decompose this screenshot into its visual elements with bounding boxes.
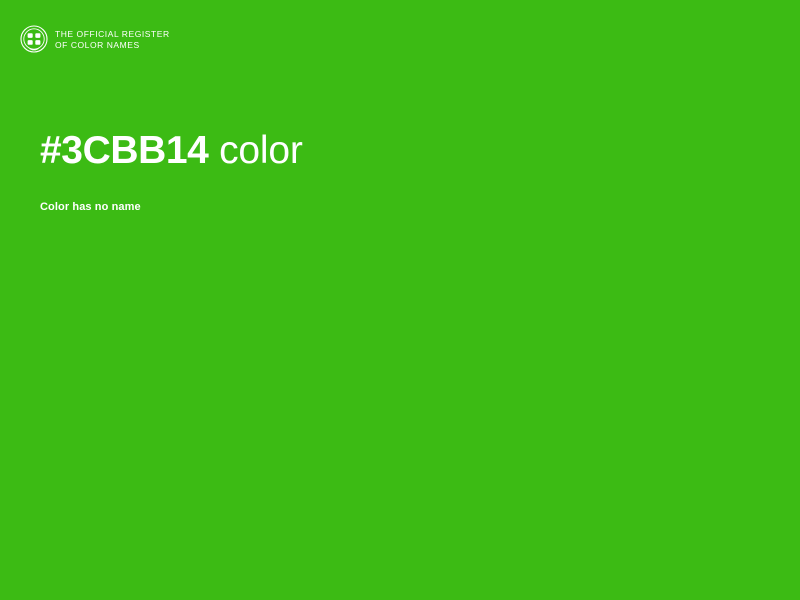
register-seal-icon xyxy=(20,25,48,53)
color-page: THE OFFICIAL REGISTER OF COLOR NAMES #3C… xyxy=(0,0,800,600)
color-info: #3CBB14 color Color has no name xyxy=(40,128,740,214)
page-title: #3CBB14 color xyxy=(40,128,740,174)
brand-line-2: OF COLOR NAMES xyxy=(55,40,170,51)
brand-logo[interactable]: THE OFFICIAL REGISTER OF COLOR NAMES xyxy=(20,25,170,53)
brand-line-1: THE OFFICIAL REGISTER xyxy=(55,29,170,40)
page-title-suffix: color xyxy=(208,129,302,172)
color-name-status: Color has no name xyxy=(40,174,740,214)
brand-wordmark: THE OFFICIAL REGISTER OF COLOR NAMES xyxy=(55,28,170,50)
color-hex-value: #3CBB14 xyxy=(40,129,208,172)
